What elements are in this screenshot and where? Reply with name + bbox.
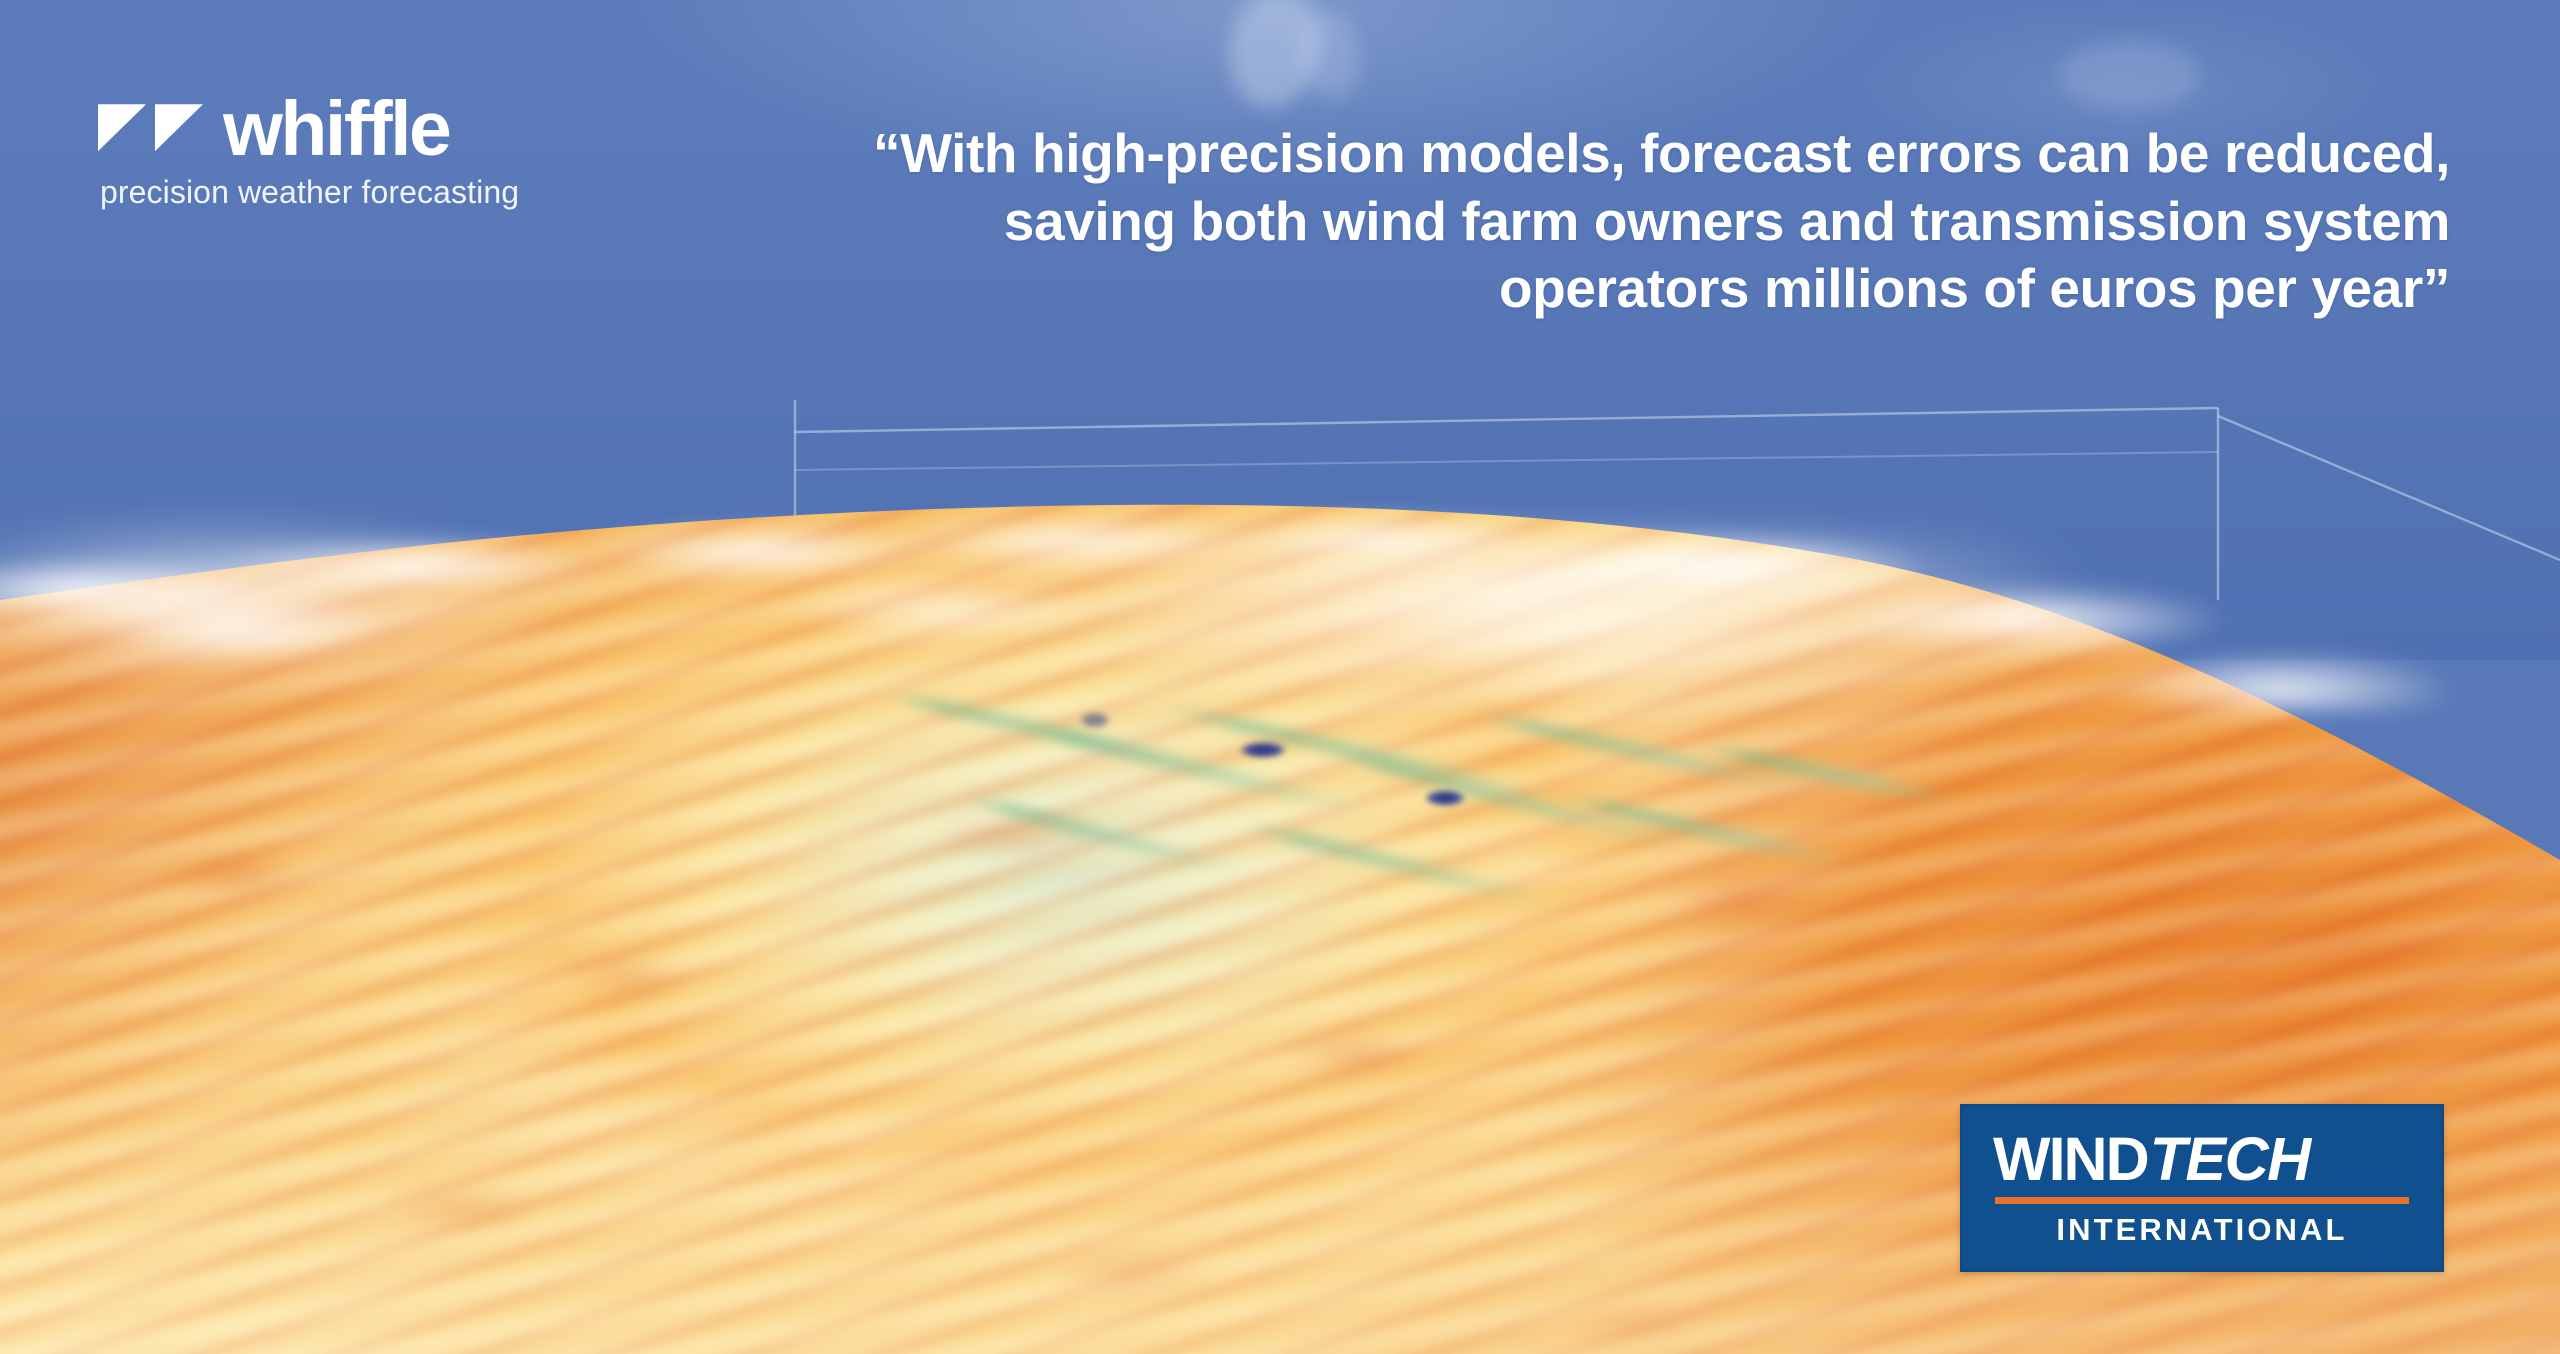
triangle-icon — [98, 104, 146, 151]
triangle-icon — [155, 104, 203, 151]
whiffle-tagline: precision weather forecasting — [100, 174, 598, 211]
whiffle-triangles-mark-icon — [98, 104, 203, 151]
banner-stage: whiffle precision weather forecasting “W… — [0, 0, 2560, 1354]
windtech-orange-rule — [1995, 1197, 2409, 1204]
windtech-international-logo[interactable]: WIND TECH INTERNATIONAL — [1960, 1104, 2444, 1272]
windtech-international-text: INTERNATIONAL — [1993, 1212, 2411, 1248]
whiffle-logo[interactable]: whiffle precision weather forecasting — [98, 96, 598, 211]
quote-text: “With high-precision models, forecast er… — [810, 120, 2450, 323]
windtech-tech-text: TECH — [2150, 1130, 2310, 1190]
whiffle-wordmark: whiffle — [223, 96, 449, 162]
windtech-wind-text: WIND — [1993, 1130, 2148, 1190]
